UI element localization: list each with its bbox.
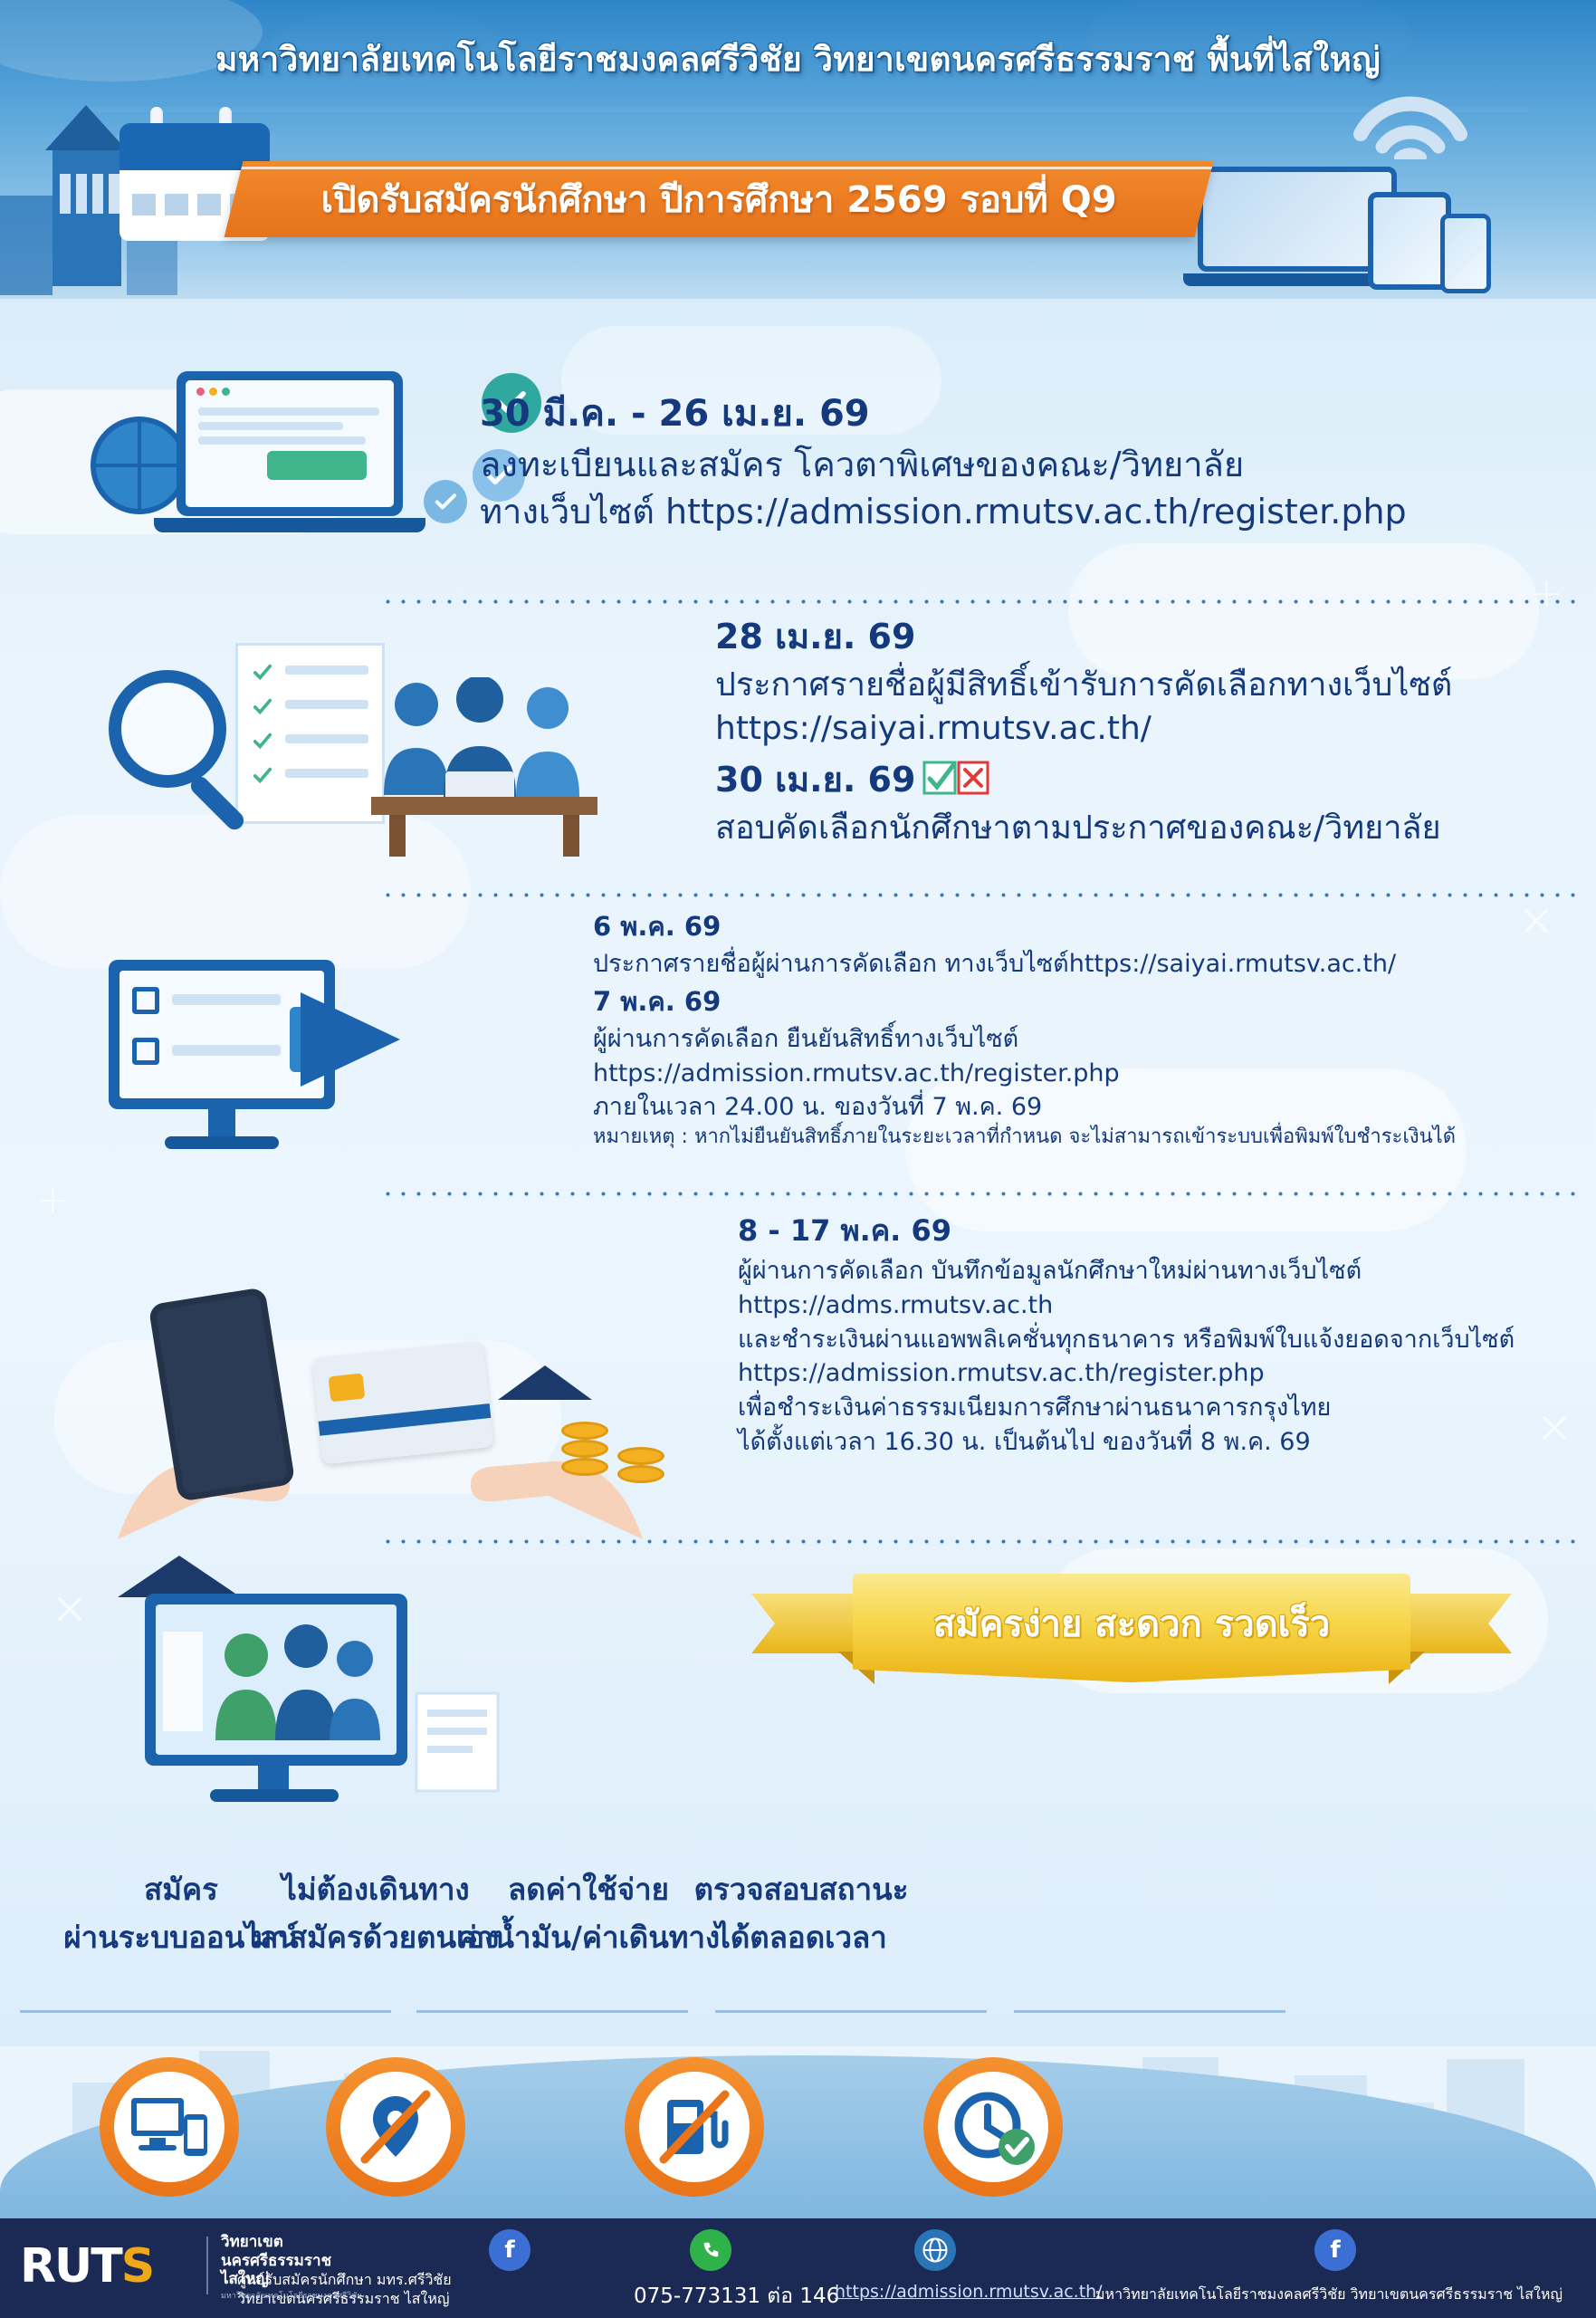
laptop-globe-illustration — [91, 362, 435, 561]
benefit-anytime: ตรวจสอบสถานะ ได้ตลอดเวลา — [634, 1865, 969, 1961]
clock-check-icon — [923, 2057, 1063, 2197]
step-line: ประกาศรายชื่อผู้ผ่านการคัดเลือก ทางเว็บไ… — [593, 947, 1456, 981]
step-line: ได้ตั้งแต่เวลา 16.30 น. เป็นต้นไป ของวัน… — [738, 1425, 1515, 1460]
facebook-icon-2[interactable]: f — [1314, 2229, 1356, 2271]
step-line: ผู้ผ่านการคัดเลือก บันทึกข้อมูลนักศึกษาใ… — [738, 1254, 1515, 1288]
wifi-icon — [1352, 78, 1469, 159]
step-date: 8 - 17 พ.ค. 69 — [738, 1208, 1515, 1254]
separator-3 — [380, 1192, 1584, 1196]
graduation-monitor-illustration — [109, 1548, 543, 1793]
step-line: ลงทะเบียนและสมัคร โควตาพิเศษของคณะ/วิทยา… — [480, 442, 1407, 489]
megaphone-monitor-illustration — [109, 951, 543, 1159]
magnifier-people-illustration — [100, 634, 607, 860]
step-line-2: สอบคัดเลือกนักศึกษาตามประกาศของคณะ/วิทยา… — [715, 807, 1452, 850]
phone-icon[interactable] — [690, 2229, 731, 2271]
checkbox-cross-icon — [922, 760, 989, 800]
logo-text: RUTS — [20, 2239, 153, 2294]
ribbon-text: สมัครง่าย สะดวก รวดเร็ว — [853, 1574, 1410, 1673]
benefit-line2: ได้ตลอดเวลา — [634, 1913, 969, 1961]
center-line1: ศูนย์รับสมัครนักศึกษา มทร.ศรีวิชัย — [237, 2271, 452, 2290]
step-line: เพื่อชำระเงินค่าธรรมเนียมการศึกษาผ่านธนา… — [738, 1391, 1515, 1425]
step-result-confirm: 6 พ.ค. 69 ประกาศรายชื่อผู้ผ่านการคัดเลือ… — [593, 905, 1456, 1151]
center-line2: วิทยาเขตนครศรีธรรมราช ไสใหญ่ — [237, 2290, 452, 2309]
step-line: ทางเว็บไซต์ https://admission.rmutsv.ac.… — [480, 489, 1407, 536]
admission-center-text: ศูนย์รับสมัครนักศึกษา มทร.ศรีวิชัย วิทยา… — [237, 2271, 452, 2309]
step-register: 30 มี.ค. - 26 เม.ย. 69 ลงทะเบียนและสมัคร… — [480, 384, 1407, 535]
devices-icon — [1198, 167, 1496, 302]
step-line-2: ภายในเวลา 24.00 น. ของวันที่ 7 พ.ค. 69 — [593, 1090, 1456, 1124]
benefits-section: สมัคร ผ่านระบบออนไลน์ ไม่ต้องเดินทาง มาส… — [0, 1847, 1596, 2227]
facebook-icon[interactable]: f — [489, 2229, 530, 2271]
separator-4 — [380, 1539, 1584, 1544]
step-date-2: 7 พ.ค. 69 — [593, 981, 1456, 1022]
admission-url[interactable]: https://admission.rmutsv.ac.th/ — [835, 2282, 1103, 2302]
footer-divider — [206, 2237, 208, 2294]
separator-1 — [380, 599, 1584, 604]
step-line: ประกาศรายชื่อผู้มีสิทธิ์เข้ารับการคัดเลื… — [715, 664, 1452, 707]
step-line-2: https://admission.rmutsv.ac.th/register.… — [593, 1057, 1456, 1090]
step-line: https://adms.rmutsv.ac.th — [738, 1288, 1515, 1323]
campus-line1: วิทยาเขต — [221, 2233, 362, 2252]
university-long-name: มหาวิทยาลัยเทคโนโลยีราชมงคลศรีวิชัย วิทย… — [1095, 2284, 1563, 2306]
step-line: และชำระเงินผ่านแอพพลิเคชั่นทุกธนาคาร หรื… — [738, 1323, 1515, 1357]
step-date: 30 มี.ค. - 26 เม.ย. 69 — [480, 384, 1407, 442]
step-date: 6 พ.ค. 69 — [593, 905, 1456, 947]
step-announce-eligible: 28 เม.ย. 69 ประกาศรายชื่อผู้มีสิทธิ์เข้า… — [715, 608, 1452, 850]
no-location-icon — [326, 2057, 465, 2197]
university-title: มหาวิทยาลัยเทคโนโลยีราชมงคลศรีวิชัย วิทย… — [0, 33, 1596, 86]
no-fuel-icon — [625, 2057, 764, 2197]
infographic-page: + + มหาวิทยาลัย — [0, 0, 1596, 2318]
admission-banner-text: เปิดรับสมัครนักศึกษา ปีการศึกษา 2569 รอบ… — [234, 161, 1204, 237]
check-badge-tertiary — [424, 480, 467, 523]
ruts-logo: RUTS — [20, 2235, 201, 2298]
step-payment: 8 - 17 พ.ค. 69 ผู้ผ่านการคัดเลือก บันทึก… — [738, 1208, 1515, 1460]
step-line-2: ผู้ผ่านการคัดเลือก ยืนยันสิทธิ์ทางเว็บไซ… — [593, 1022, 1456, 1056]
step-date-2: 30 เม.ย. 69 — [715, 752, 915, 807]
globe-icon[interactable] — [914, 2229, 956, 2271]
ribbon: สมัครง่าย สะดวก รวดเร็ว — [751, 1574, 1512, 1690]
step-line: https://admission.rmutsv.ac.th/register.… — [738, 1356, 1515, 1391]
step-note: หมายเหตุ : หากไม่ยืนยันสิทธิ์ภายในระยะเว… — [593, 1124, 1456, 1151]
campus-line2: นครศรีธรรมราช — [221, 2252, 362, 2271]
footer: RUTS วิทยาเขต นครศรีธรรมราช ไสใหญ่ มหาวิ… — [0, 2218, 1596, 2318]
separator-2 — [380, 893, 1584, 897]
payment-illustration — [109, 1259, 688, 1512]
phone-number: 075-773131 ต่อ 146 — [634, 2280, 839, 2313]
computer-phone-icon — [100, 2057, 239, 2197]
benefit-line1: ตรวจสอบสถานะ — [634, 1865, 969, 1913]
step-line: https://saiyai.rmutsv.ac.th/ — [715, 707, 1452, 751]
step-date: 28 เม.ย. 69 — [715, 608, 1452, 664]
